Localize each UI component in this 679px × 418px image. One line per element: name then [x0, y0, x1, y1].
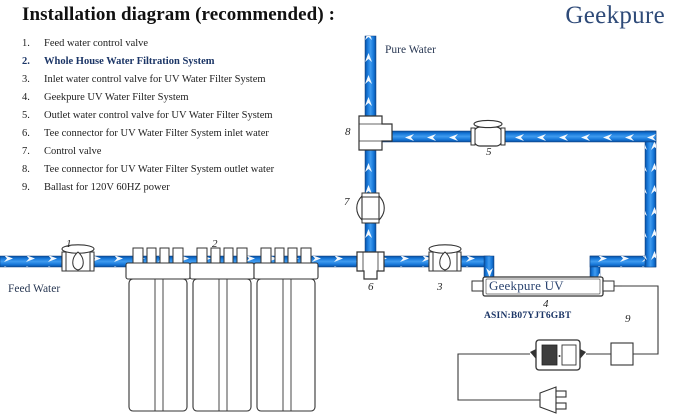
callout-2: 2: [212, 238, 218, 250]
piping-diagram: [0, 0, 679, 418]
pure-water-label: Pure Water: [385, 44, 436, 56]
pipe-right-riser: [645, 131, 656, 267]
asin-label: ASIN:B07YJT6GBT: [484, 311, 571, 321]
callout-9: 9: [625, 313, 631, 325]
pipe-pure-water: [365, 36, 376, 124]
pipe-top-run: [380, 131, 656, 142]
pipe-uv-inlet-drop: [484, 256, 494, 278]
filter-housing[interactable]: [190, 248, 254, 411]
ballast-unit[interactable]: [530, 340, 586, 370]
callout-6: 6: [368, 281, 374, 293]
callout-8: 8: [345, 126, 351, 138]
filter-housing-group: [126, 248, 318, 411]
outlet-water-control-valve[interactable]: [471, 120, 505, 146]
pipe-network: [0, 36, 656, 280]
callout-1: 1: [66, 238, 72, 250]
inlet-water-control-valve[interactable]: [429, 245, 461, 271]
callout-7: 7: [344, 196, 350, 208]
wiring-connector-box: [611, 343, 633, 365]
uv-unit-label: Geekpure UV: [489, 278, 564, 294]
power-plug: [540, 387, 566, 413]
installation-diagram-page: Installation diagram (recommended) : Gee…: [0, 0, 679, 418]
filter-housing[interactable]: [126, 248, 190, 411]
tee-connector-inlet[interactable]: [357, 252, 384, 279]
callout-3: 3: [437, 281, 443, 293]
tee-connector-outlet[interactable]: [359, 116, 392, 150]
filter-housing[interactable]: [254, 248, 318, 411]
control-valve[interactable]: [357, 193, 385, 223]
callout-5: 5: [486, 146, 492, 158]
feed-water-label: Feed Water: [8, 283, 60, 295]
callout-4: 4: [543, 298, 549, 310]
